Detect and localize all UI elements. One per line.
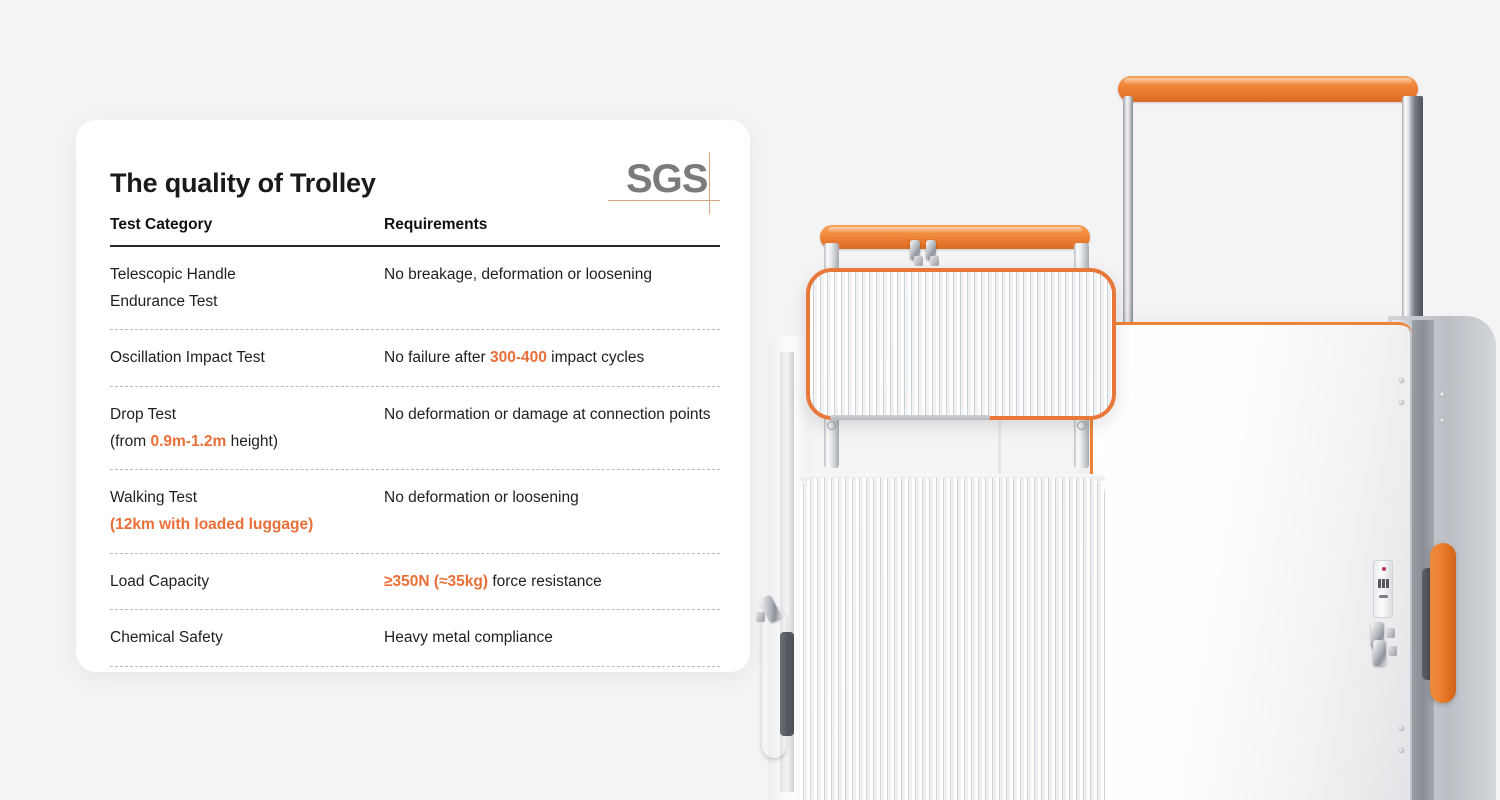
requirement-text: No deformation or damage at connection p…: [384, 406, 711, 423]
zipper-tab-icon: [756, 612, 765, 622]
sgs-logo-text: SGS: [626, 158, 707, 200]
column-header-test-category: Test Category: [110, 216, 384, 234]
vanity-case-shell: [806, 268, 1116, 420]
small-suitcase-ribbed-texture: [800, 478, 1105, 800]
lock-slider-icon: [1379, 595, 1388, 598]
cell-test-category: Chemical Safety: [110, 625, 384, 652]
rivet-icon: [1399, 400, 1404, 405]
card-header: The quality of Trolley SGS: [110, 153, 720, 213]
cell-test-category: Drop Test (from 0.9m-1.2m height): [110, 402, 384, 455]
cell-requirement: No deformation or damage at connection p…: [384, 402, 720, 455]
zipper-tab-icon: [914, 256, 923, 266]
column-header-requirements: Requirements: [384, 216, 487, 234]
requirement-text-pre: No failure after: [384, 349, 490, 366]
category-line-2-pre: (from: [110, 433, 150, 450]
cell-requirement: Heavy metal compliance: [384, 625, 720, 652]
vanity-case-zipper-pulls: [908, 240, 952, 264]
rivet-icon: [1399, 378, 1404, 383]
large-suitcase-tsa-lock: [1373, 560, 1393, 618]
zipper-pull-icon: [1373, 640, 1386, 666]
pole-ring-icon: [827, 421, 836, 430]
vanity-case-ribbed-texture: [810, 272, 1112, 416]
category-line-1: Telescopic Handle: [110, 266, 236, 283]
requirement-highlight: ≥350N (≈35kg): [384, 573, 488, 590]
small-suitcase-shell: [800, 478, 1105, 800]
requirement-text-post: force resistance: [488, 573, 602, 590]
requirement-highlight: 300-400: [490, 349, 547, 366]
large-suitcase-side-handle: [1430, 543, 1456, 703]
small-suitcase-handle-grip: [820, 225, 1090, 249]
product-photo: [740, 0, 1500, 800]
sgs-logo: SGS: [608, 152, 720, 214]
table-row: Oscillation Impact Test No failure after…: [110, 330, 720, 387]
category-line-1: Chemical Safety: [110, 629, 223, 646]
rivet-icon: [1399, 748, 1404, 753]
zipper-tab-icon: [930, 256, 939, 266]
vanity-case-seam: [830, 415, 990, 420]
table-row: Walking Test (12km with loaded luggage) …: [110, 470, 720, 553]
rivet-icon: [1440, 418, 1445, 423]
category-highlight: 0.9m-1.2m: [150, 433, 226, 450]
small-suitcase-side-handle: [762, 608, 786, 758]
requirement-text-post: impact cycles: [547, 349, 644, 366]
cell-requirement: No failure after 300-400 impact cycles: [384, 345, 720, 372]
quality-spec-card: The quality of Trolley SGS Test Category…: [76, 120, 750, 672]
table-row: Telescopic Handle Endurance Test No brea…: [110, 247, 720, 330]
requirement-text: Heavy metal compliance: [384, 629, 553, 646]
sgs-logo-vertical-line: [709, 152, 710, 214]
category-line-2: Endurance Test: [110, 293, 217, 310]
cell-requirement: No deformation or loosening: [384, 485, 720, 538]
table-row: Load Capacity ≥350N (≈35kg) force resist…: [110, 554, 720, 611]
lock-indicator-icon: [1382, 567, 1386, 571]
cell-test-category: Load Capacity: [110, 569, 384, 596]
large-suitcase-handle-grip: [1118, 76, 1418, 102]
large-suitcase-handle-pole-left: [1123, 96, 1133, 346]
rivet-icon: [1440, 392, 1445, 397]
category-line-2-post: height): [226, 433, 278, 450]
category-highlight: (12km with loaded luggage): [110, 512, 374, 539]
pole-ring-icon: [1077, 421, 1086, 430]
category-line-1: Load Capacity: [110, 573, 209, 590]
cell-test-category: Oscillation Impact Test: [110, 345, 384, 372]
requirement-text: No deformation or loosening: [384, 489, 579, 506]
cell-test-category: Telescopic Handle Endurance Test: [110, 262, 384, 315]
page-title: The quality of Trolley: [110, 168, 376, 199]
large-suitcase-shell: [1090, 322, 1410, 800]
cell-requirement: ≥350N (≈35kg) force resistance: [384, 569, 720, 596]
quality-spec-table: Test Category Requirements Telescopic Ha…: [110, 216, 720, 667]
category-line-1: Drop Test: [110, 406, 176, 423]
cell-test-category: Walking Test (12km with loaded luggage): [110, 485, 384, 538]
table-row: Chemical Safety Heavy metal compliance: [110, 610, 720, 667]
table-row: Drop Test (from 0.9m-1.2m height) No def…: [110, 387, 720, 470]
lock-dials-icon: [1378, 579, 1390, 588]
rivet-icon: [1399, 726, 1404, 731]
category-line-1: Oscillation Impact Test: [110, 349, 265, 366]
zipper-tab-icon: [1388, 646, 1397, 656]
cell-requirement: No breakage, deformation or loosening: [384, 262, 720, 315]
category-line-1: Walking Test: [110, 489, 197, 506]
requirement-text: No breakage, deformation or loosening: [384, 266, 652, 283]
zipper-tab-icon: [1386, 628, 1395, 638]
table-header-row: Test Category Requirements: [110, 216, 720, 245]
